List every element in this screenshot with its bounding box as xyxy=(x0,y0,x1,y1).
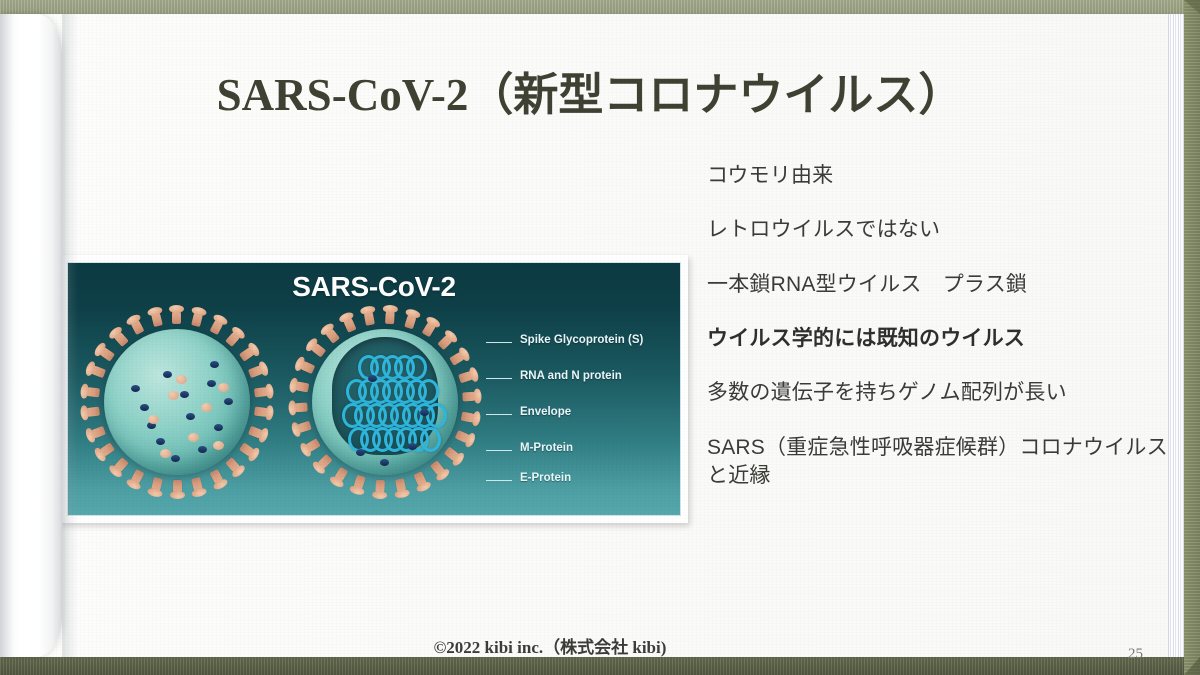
frame-corner-bottom-right xyxy=(1184,657,1200,675)
m-protein-icon xyxy=(356,449,365,456)
spike-protein-icon xyxy=(173,480,182,494)
e-protein-icon xyxy=(176,375,187,384)
e-protein-icon xyxy=(148,415,159,424)
spike-protein-icon xyxy=(294,381,309,392)
spike-protein-icon xyxy=(437,334,453,350)
slide-canvas: SARS-CoV-2（新型コロナウイルス） SARS-CoV-2 Spike G… xyxy=(0,0,1200,675)
bullet-item: ウイルス学的には既知のウイルス xyxy=(707,325,1175,353)
figure-label-text: E-Protein xyxy=(520,472,571,484)
e-protein-icon xyxy=(201,403,212,412)
spike-protein-icon xyxy=(458,370,474,383)
bullet-item: レトロウイルスではない xyxy=(707,216,1175,244)
spike-protein-icon xyxy=(293,402,308,412)
e-protein-icon xyxy=(188,433,199,442)
figure-label-text: M-Protein xyxy=(520,442,573,454)
spike-protein-icon xyxy=(325,327,341,344)
spike-protein-icon xyxy=(99,346,116,361)
spike-protein-icon xyxy=(113,330,129,346)
spike-protein-icon xyxy=(191,477,203,493)
figure-caption-title: SARS-CoV-2 xyxy=(68,271,680,303)
bullet-item: コウモリ由来 xyxy=(707,162,1175,190)
spike-protein-icon xyxy=(248,365,264,378)
spike-protein-icon xyxy=(343,316,357,332)
spike-protein-icon xyxy=(89,426,105,439)
rna-coil-icon xyxy=(418,379,439,404)
spike-protein-icon xyxy=(130,318,144,335)
spike-protein-icon xyxy=(239,443,256,458)
spike-protein-icon xyxy=(375,480,385,495)
spike-protein-icon xyxy=(225,330,241,346)
e-protein-icon xyxy=(168,391,179,400)
spike-protein-icon xyxy=(89,365,105,378)
frame-bottom-band xyxy=(0,657,1200,675)
spike-protein-icon xyxy=(454,430,470,444)
slide-content: SARS-CoV-2（新型コロナウイルス） SARS-CoV-2 Spike G… xyxy=(0,14,1168,657)
m-protein-icon xyxy=(156,438,165,445)
m-protein-icon xyxy=(171,455,180,462)
spike-protein-icon xyxy=(151,477,163,493)
m-protein-icon xyxy=(408,443,417,450)
m-protein-icon xyxy=(131,385,140,392)
spike-protein-icon xyxy=(421,321,436,338)
spine-shadow xyxy=(62,14,78,657)
figure-label-text: RNA and N protein xyxy=(520,370,622,382)
page-title: SARS-CoV-2（新型コロナウイルス） xyxy=(90,71,1090,121)
virus-diagram-image: SARS-CoV-2 Spike Glycoprotein (S)RNA and… xyxy=(67,262,681,516)
m-protein-icon xyxy=(140,404,149,411)
spike-protein-icon xyxy=(113,457,129,473)
spike-protein-icon xyxy=(248,425,264,438)
e-protein-icon xyxy=(218,383,229,392)
bullet-list: コウモリ由来レトロウイルスではない一本鎖RNA型ウイルス プラス鎖ウイルス学的に… xyxy=(707,162,1175,490)
figure-label-text: Envelope xyxy=(520,406,571,418)
page-curl-left xyxy=(0,14,62,657)
spike-protein-icon xyxy=(239,346,256,361)
spike-protein-icon xyxy=(304,439,321,454)
spike-protein-icon xyxy=(385,310,395,325)
spike-protein-icon xyxy=(444,446,461,462)
spike-protein-icon xyxy=(353,475,366,491)
m-protein-icon xyxy=(380,459,389,466)
m-protein-icon xyxy=(163,371,172,378)
spike-protein-icon xyxy=(85,387,100,398)
footer-copyright: ©2022 kibi inc.（株式会社 kibi) xyxy=(0,633,1100,658)
m-protein-icon xyxy=(368,375,377,382)
e-protein-icon xyxy=(213,441,224,450)
spike-protein-icon xyxy=(310,342,327,358)
spike-protein-icon xyxy=(172,310,181,324)
spike-protein-icon xyxy=(225,457,241,473)
spike-protein-icon xyxy=(191,312,203,328)
rna-coil-icon xyxy=(426,403,447,428)
spike-protein-icon xyxy=(299,360,315,374)
leader-line xyxy=(486,414,512,415)
spike-protein-icon xyxy=(130,469,144,486)
spike-protein-icon xyxy=(364,311,375,326)
spike-protein-icon xyxy=(463,392,478,402)
leader-line xyxy=(486,342,512,343)
bullet-item: 一本鎖RNA型ウイルス プラス鎖 xyxy=(707,271,1175,299)
m-protein-icon xyxy=(180,391,189,398)
leader-line xyxy=(486,450,512,451)
m-protein-icon xyxy=(207,380,216,387)
leader-line xyxy=(486,378,512,379)
spike-protein-icon xyxy=(404,313,417,329)
virus-figure-card: SARS-CoV-2 Spike Glycoprotein (S)RNA and… xyxy=(60,255,688,523)
spike-protein-icon xyxy=(430,461,446,478)
frame-right-band xyxy=(1184,0,1200,675)
m-protein-icon xyxy=(420,409,429,416)
spike-protein-icon xyxy=(334,466,349,483)
notebook-page: SARS-CoV-2（新型コロナウイルス） SARS-CoV-2 Spike G… xyxy=(0,14,1168,657)
spike-protein-icon xyxy=(151,312,163,328)
m-protein-icon xyxy=(186,413,195,420)
spike-protein-icon xyxy=(461,412,476,423)
bullet-item: 多数の遺伝子を持ちゲノム配列が長い xyxy=(707,379,1175,407)
rna-coil-icon xyxy=(406,355,427,380)
leader-line xyxy=(486,480,512,481)
spike-protein-icon xyxy=(209,318,223,335)
m-protein-icon xyxy=(210,361,219,368)
spike-protein-icon xyxy=(413,471,427,487)
spike-protein-icon xyxy=(449,350,466,365)
e-protein-icon xyxy=(160,449,171,458)
bullet-item: SARS（重症急性呼吸器症候群）コロナウイルスと近縁 xyxy=(707,434,1175,491)
m-protein-icon xyxy=(224,398,233,405)
spike-protein-icon xyxy=(296,421,312,434)
spike-protein-icon xyxy=(209,469,223,486)
m-protein-icon xyxy=(214,424,223,431)
spike-protein-icon xyxy=(85,407,100,418)
frame-top-band xyxy=(0,0,1200,14)
spike-protein-icon xyxy=(99,443,116,458)
spike-protein-icon xyxy=(254,386,269,397)
rna-coil-icon xyxy=(420,427,441,452)
frame-corner-top-right xyxy=(1184,0,1200,14)
m-protein-icon xyxy=(198,446,207,453)
figure-label-text: Spike Glycoprotein (S) xyxy=(520,334,643,346)
page-number: 25 xyxy=(1128,646,1143,663)
spike-protein-icon xyxy=(395,478,406,493)
spike-protein-icon xyxy=(317,454,333,470)
spike-protein-icon xyxy=(254,407,269,418)
